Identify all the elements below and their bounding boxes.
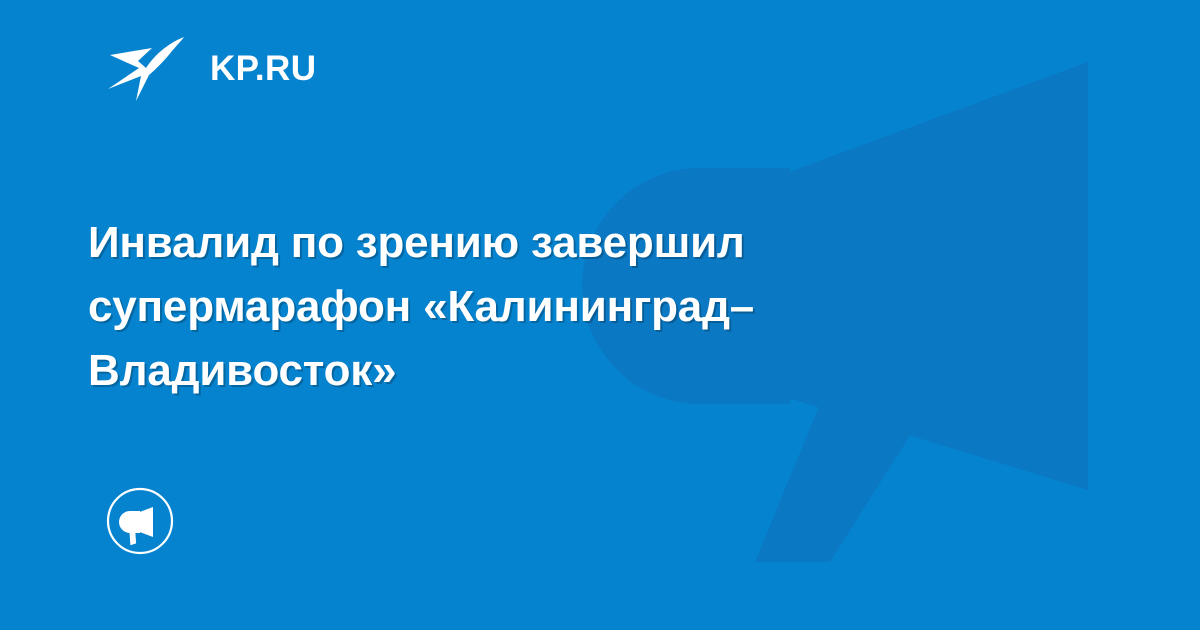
swallow-bird-icon	[108, 35, 184, 101]
brand-wordmark: KP.RU	[210, 51, 316, 86]
social-share-card: KP.RU Инвалид по зрению завершил суперма…	[0, 0, 1200, 630]
megaphone-icon	[106, 487, 174, 555]
brand-header[interactable]: KP.RU	[108, 36, 316, 100]
headline-text: Инвалид по зрению завершил супермарафон …	[88, 211, 988, 403]
megaphone-badge[interactable]	[106, 487, 174, 555]
